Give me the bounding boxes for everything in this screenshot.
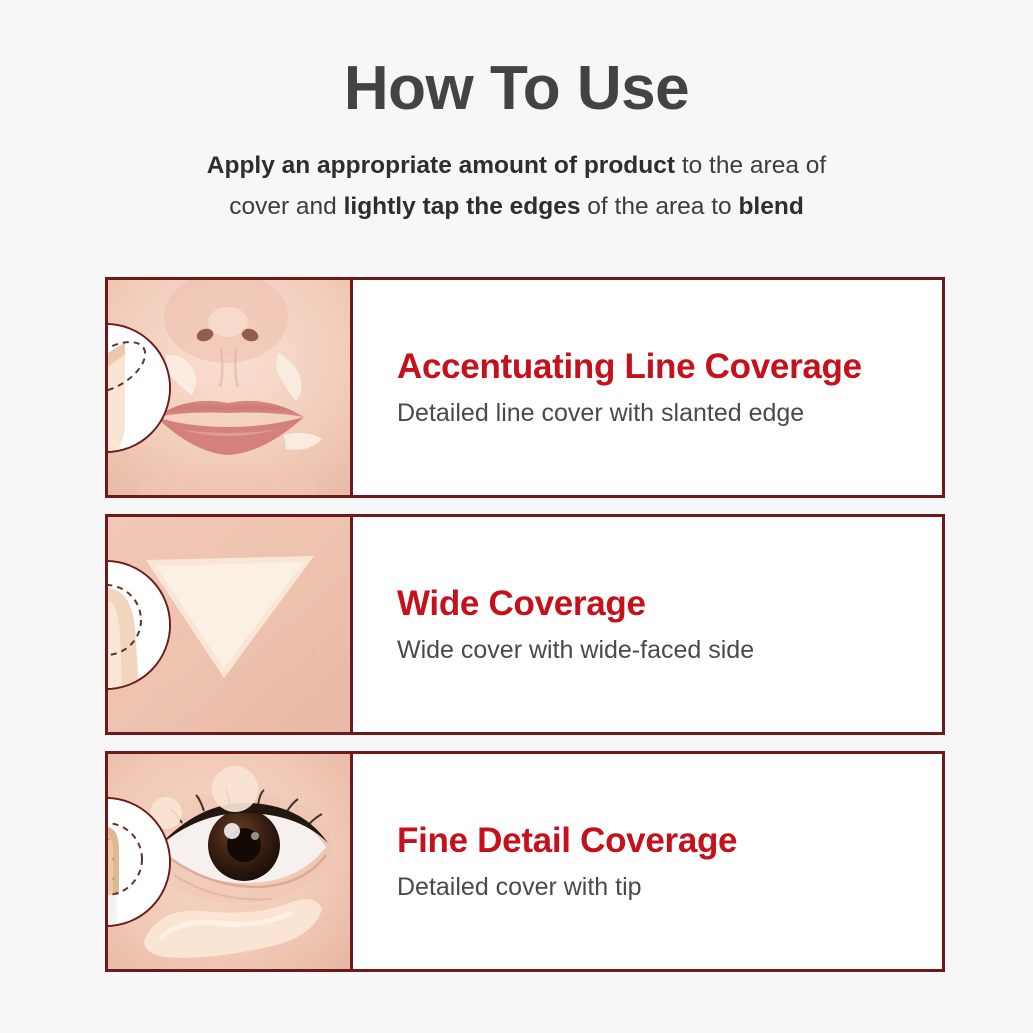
card-title: Wide Coverage (397, 584, 942, 624)
page-subtitle: Apply an appropriate amount of product t… (122, 146, 912, 227)
card-body-fine-detail: Fine Detail Coverage Detailed cover with… (353, 754, 942, 969)
card-title: Fine Detail Coverage (397, 821, 942, 861)
card-title: Accentuating Line Coverage (397, 347, 942, 387)
usage-card-fine-detail[interactable]: Fine Detail Coverage Detailed cover with… (105, 751, 945, 972)
usage-card-list: Accentuating Line Coverage Detailed line… (105, 277, 945, 988)
card-photo-wide-coverage (108, 517, 353, 732)
card-description: Wide cover with wide-faced side (397, 635, 942, 665)
page-title: How To Use (0, 58, 1033, 120)
subtitle-line-2: cover and lightly tap the edges of the a… (122, 187, 912, 228)
subtitle-plain-1: to the area of (675, 152, 826, 179)
usage-card-accentuating-line[interactable]: Accentuating Line Coverage Detailed line… (105, 277, 945, 498)
card-body-accentuating-line: Accentuating Line Coverage Detailed line… (353, 280, 942, 495)
subtitle-bold-2: lightly tap the edges (344, 193, 581, 220)
page-header: How To Use Apply an appropriate amount o… (0, 0, 1033, 227)
card-photo-fine-detail (108, 754, 353, 969)
subtitle-plain-2: cover and (229, 193, 343, 220)
card-photo-accentuating-line (108, 280, 353, 495)
subtitle-bold-3: blend (738, 193, 803, 220)
card-body-wide-coverage: Wide Coverage Wide cover with wide-faced… (353, 517, 942, 732)
subtitle-bold-1: Apply an appropriate amount of product (207, 152, 675, 179)
card-description: Detailed line cover with slanted edge (397, 398, 942, 428)
subtitle-plain-3: of the area to (580, 193, 738, 220)
card-description: Detailed cover with tip (397, 872, 942, 902)
subtitle-line-1: Apply an appropriate amount of product t… (122, 146, 912, 187)
usage-card-wide-coverage[interactable]: Wide Coverage Wide cover with wide-faced… (105, 514, 945, 735)
